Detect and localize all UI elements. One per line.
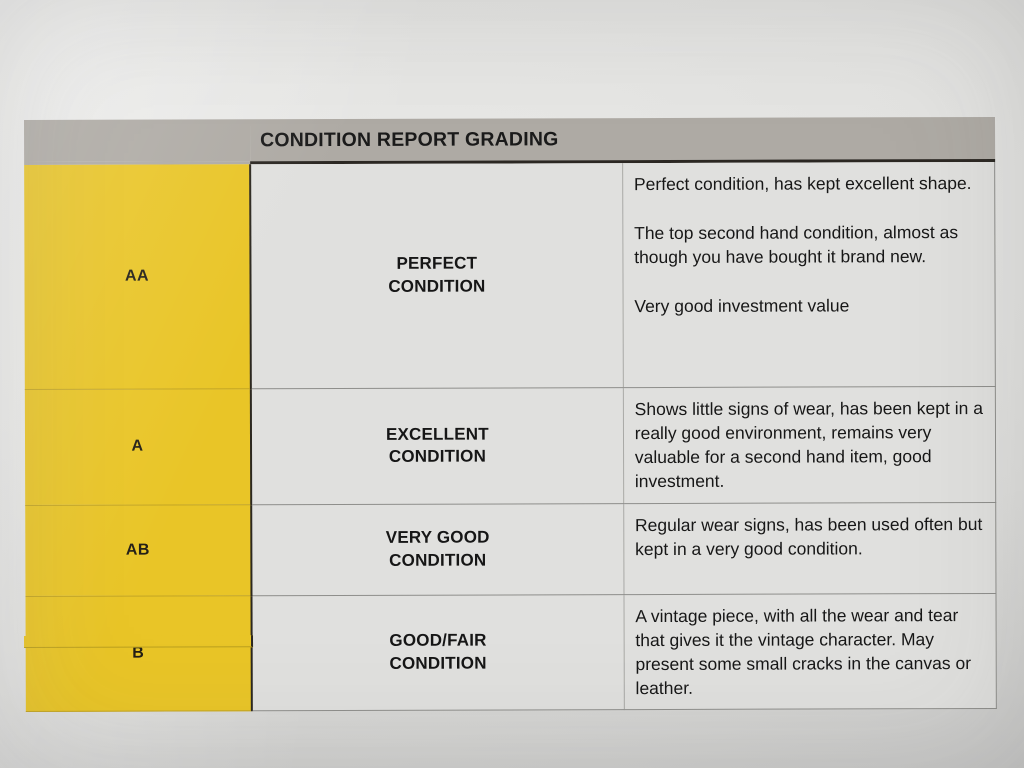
table-header-row: CONDITION REPORT GRADING xyxy=(24,117,995,162)
grade-cell-aa: AA xyxy=(24,164,251,389)
description-paragraph: The top second hand condition, almost as… xyxy=(634,220,982,269)
condition-label-line2: CONDITION xyxy=(389,550,486,569)
description-cell-ab: Regular wear signs, has been used often … xyxy=(623,502,996,594)
header-title-cell: CONDITION REPORT GRADING xyxy=(250,117,995,161)
grade-cell-a: A xyxy=(25,389,251,505)
grade-cell-b: B xyxy=(25,595,251,711)
table-row: A EXCELLENT CONDITION Shows little signs… xyxy=(25,386,996,505)
condition-label-line2: CONDITION xyxy=(389,653,486,672)
page-title: CONDITION REPORT GRADING xyxy=(260,128,558,151)
condition-label-line2: CONDITION xyxy=(388,277,485,296)
description-paragraph: Regular wear signs, has been used often … xyxy=(635,512,983,561)
condition-cell-aa: PERFECT CONDITION xyxy=(250,163,623,389)
table-row: B GOOD/FAIR CONDITION A vintage piece, w… xyxy=(25,593,996,712)
table-row: AA PERFECT CONDITION Perfect condition, … xyxy=(24,162,995,390)
condition-label-line1: GOOD/FAIR xyxy=(389,631,486,650)
grade-cell-ab: AB xyxy=(25,504,251,596)
condition-label-line1: VERY GOOD xyxy=(386,527,490,546)
condition-cell-a: EXCELLENT CONDITION xyxy=(251,388,624,505)
description-paragraph: Shows little signs of wear, has been kep… xyxy=(635,396,984,494)
description-paragraph: Very good investment value xyxy=(634,293,982,318)
condition-label-line2: CONDITION xyxy=(389,447,486,466)
photo-of-printed-table: CONDITION REPORT GRADING AA PERFECT COND… xyxy=(0,0,1024,768)
description-paragraph: Perfect condition, has kept excellent sh… xyxy=(634,171,982,196)
grading-table: CONDITION REPORT GRADING AA PERFECT COND… xyxy=(24,117,997,712)
description-paragraph: A vintage piece, with all the wear and t… xyxy=(635,603,984,701)
condition-cell-ab: VERY GOOD CONDITION xyxy=(251,503,624,595)
description-cell-b: A vintage piece, with all the wear and t… xyxy=(624,593,997,710)
table-row: AB VERY GOOD CONDITION Regular wear sign… xyxy=(25,502,996,596)
header-left-spacer xyxy=(24,119,250,162)
condition-label-line1: EXCELLENT xyxy=(386,424,489,443)
condition-cell-b: GOOD/FAIR CONDITION xyxy=(251,594,624,711)
grade-column-overhang xyxy=(24,635,253,648)
condition-report-grading-table: CONDITION REPORT GRADING AA PERFECT COND… xyxy=(24,117,997,712)
condition-label-line1: PERFECT xyxy=(396,254,477,273)
description-cell-aa: Perfect condition, has kept excellent sh… xyxy=(622,162,995,388)
description-cell-a: Shows little signs of wear, has been kep… xyxy=(623,386,996,503)
